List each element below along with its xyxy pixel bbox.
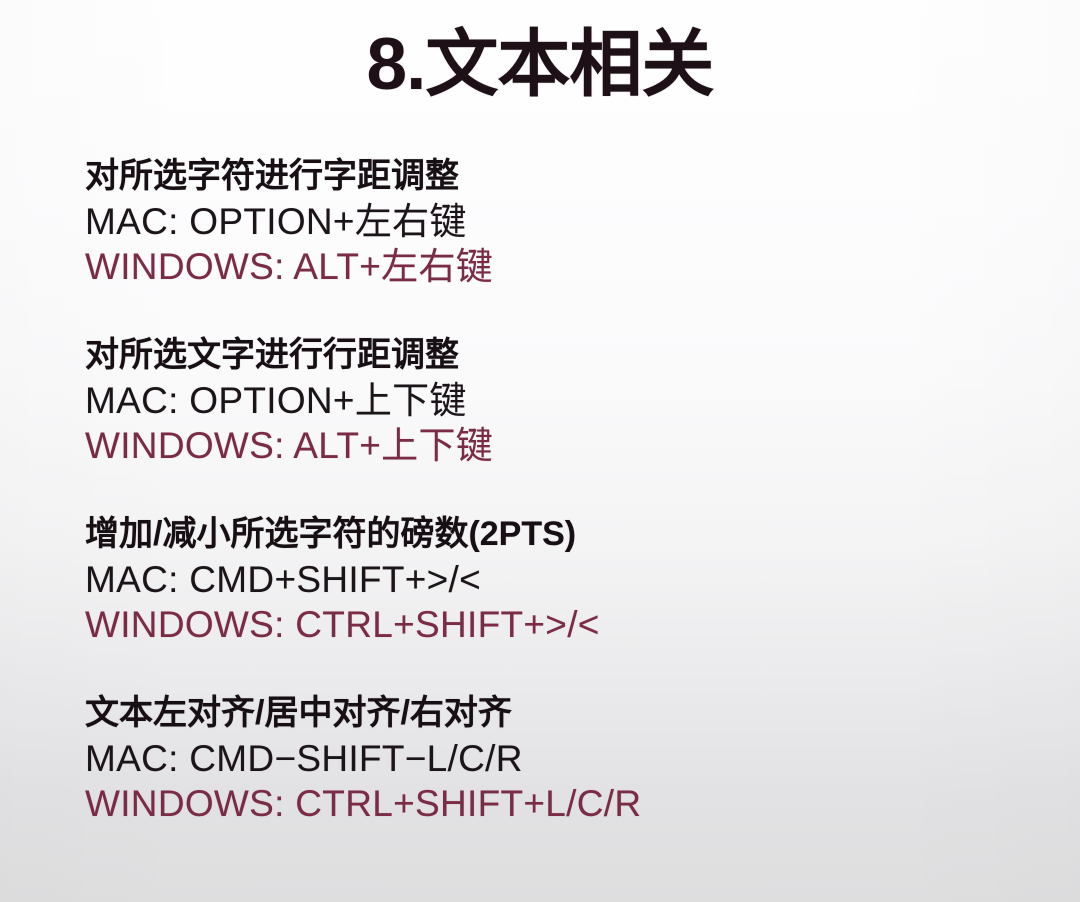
slide-canvas: 8.文本相关 对所选字符进行字距调整 MAC: OPTION+左右键 WINDO… — [0, 0, 1080, 902]
shortcut-windows: WINDOWS: ALT+左右键 — [85, 244, 1045, 289]
shortcut-mac: MAC: CMD−SHIFT−L/C/R — [85, 736, 1045, 781]
shortcut-description: 文本左对齐/居中对齐/右对齐 — [85, 691, 1045, 736]
shortcut-mac: MAC: CMD+SHIFT+>/< — [85, 557, 1045, 602]
shortcut-block: 对所选文字进行行距调整 MAC: OPTION+上下键 WINDOWS: ALT… — [85, 333, 1045, 468]
shortcut-block: 对所选字符进行字距调整 MAC: OPTION+左右键 WINDOWS: ALT… — [85, 154, 1045, 289]
shortcut-mac: MAC: OPTION+上下键 — [85, 378, 1045, 423]
shortcut-windows: WINDOWS: ALT+上下键 — [85, 423, 1045, 468]
shortcut-list: 对所选字符进行字距调整 MAC: OPTION+左右键 WINDOWS: ALT… — [85, 154, 1045, 826]
shortcut-block: 文本左对齐/居中对齐/右对齐 MAC: CMD−SHIFT−L/C/R WIND… — [85, 691, 1045, 826]
shortcut-windows: WINDOWS: CTRL+SHIFT+>/< — [85, 602, 1045, 647]
shortcut-description: 增加/减小所选字符的磅数(2PTS) — [85, 512, 1045, 557]
shortcut-block: 增加/减小所选字符的磅数(2PTS) MAC: CMD+SHIFT+>/< WI… — [85, 512, 1045, 647]
shortcut-windows: WINDOWS: CTRL+SHIFT+L/C/R — [85, 781, 1045, 826]
page-title: 8.文本相关 — [0, 26, 1080, 105]
shortcut-description: 对所选文字进行行距调整 — [85, 333, 1045, 378]
shortcut-description: 对所选字符进行字距调整 — [85, 154, 1045, 199]
shortcut-mac: MAC: OPTION+左右键 — [85, 199, 1045, 244]
